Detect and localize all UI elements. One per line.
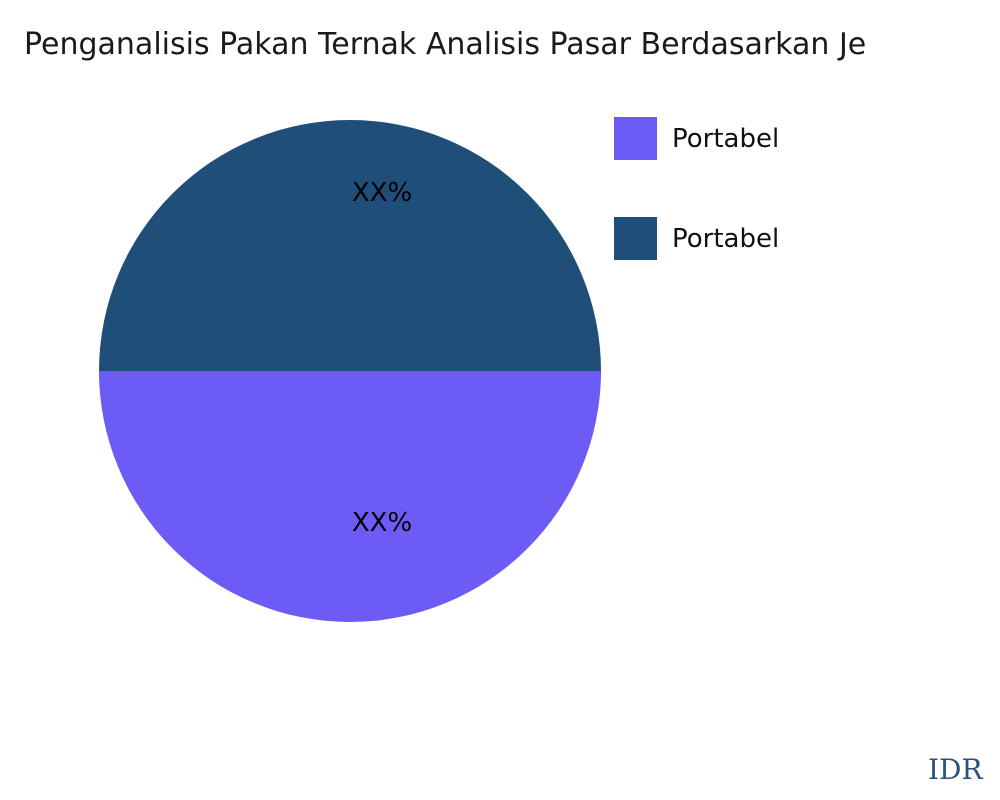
footer-watermark: IDR <box>928 755 983 785</box>
pie-slice-label-1: XX% <box>352 180 412 206</box>
pie-slice-label-0: XX% <box>352 510 412 536</box>
pie-chart: XX% XX% <box>99 120 601 622</box>
chart-title: Penganalisis Pakan Ternak Analisis Pasar… <box>24 26 1000 64</box>
legend-label-1: Portabel <box>672 226 779 252</box>
legend-item-1[interactable]: Portabel <box>614 217 779 260</box>
legend-label-0: Portabel <box>672 126 779 152</box>
chart-canvas: Penganalisis Pakan Ternak Analisis Pasar… <box>0 0 1000 800</box>
legend-swatch-icon-1 <box>614 217 657 260</box>
pie-svg <box>99 120 601 622</box>
chart-legend: Portabel Portabel <box>614 117 779 317</box>
legend-item-0[interactable]: Portabel <box>614 117 779 160</box>
pie-slice-portabel-purple[interactable] <box>99 371 601 622</box>
pie-slice-portabel-dark[interactable] <box>99 120 601 371</box>
legend-swatch-icon-0 <box>614 117 657 160</box>
